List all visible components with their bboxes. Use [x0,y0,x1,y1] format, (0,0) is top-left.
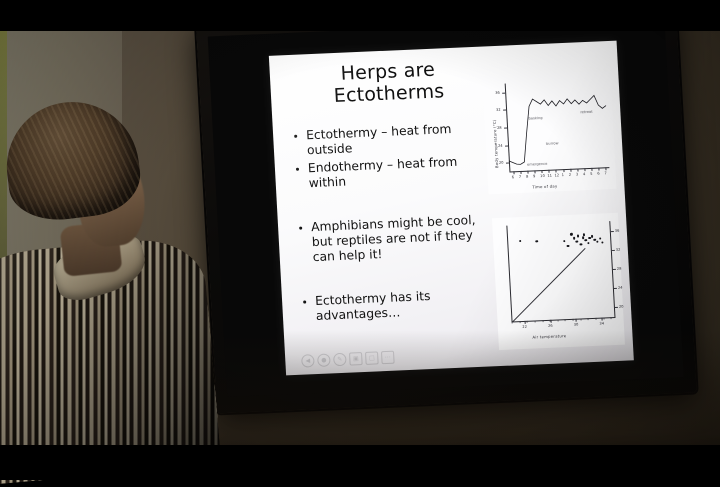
top-chart-x-tick [556,169,557,172]
scatter-point [570,233,573,235]
bottom-chart-data-points [492,213,618,218]
presentation-slide[interactable]: Herps are Ectotherms Ectothermy – heat f… [269,41,634,376]
top-chart-y-tick-label: 32 [496,108,501,112]
top-chart-x-tick-label: 6 [597,172,600,176]
bottom-chart-minor-tick [595,318,596,320]
top-chart-x-tick [570,169,571,172]
scatter-point [573,237,576,239]
top-chart-x-tick-label: 1 [562,173,565,177]
bottom-chart-y-tick-label: 32 [616,247,621,251]
bottom-chart-x-tick [576,319,577,322]
top-chart-x-tick-label: 11 [547,174,552,178]
top-chart-x-tick [513,171,514,174]
top-chart-x-tick [591,168,592,171]
scatter-point [567,245,570,247]
top-chart-x-tick-label: 10 [540,174,545,178]
bottom-chart-y-tick [613,269,616,270]
bottom-chart-minor-tick [534,320,535,322]
top-chart-x-tick [534,170,535,173]
bottom-chart-minor-tick [557,319,558,321]
bottom-chart-reference-line [512,248,585,322]
scatter-point [519,240,522,242]
top-chart-y-tick [505,145,508,146]
scatter-point [536,240,539,242]
figure-body-temperature-line-chart: Body temperature (°C) Time of day emerge… [482,71,616,194]
top-chart-x-tick-label: 3 [576,172,579,176]
scatter-point [585,239,588,241]
bottom-chart-y-tick [615,307,618,308]
top-chart-y-tick [506,163,509,164]
bottom-chart-x-tick [524,321,525,324]
bottom-chart-x-tick-label: 34 [599,321,604,325]
bottom-chart-minor-tick [512,321,513,323]
bottom-chart-minor-tick [580,318,581,320]
top-chart-x-tick-label: 7 [604,171,607,175]
bottom-chart-x-tick-label: 30 [574,323,579,327]
bottom-chart-minor-tick [572,319,573,321]
lecture-room-scene: Herps are Ectotherms Ectothermy – heat f… [0,0,720,480]
top-chart-y-tick-label: 20 [499,161,504,165]
top-chart-x-tick [549,170,550,173]
top-chart-y-tick-label: 36 [495,91,500,95]
scatter-point [583,234,586,236]
scatter-point [580,243,583,245]
slide-bullet-list: Ectothermy – heat from outside Endotherm… [291,121,492,328]
scatter-point [576,241,579,243]
bottom-chart-y-tick-label: 36 [615,228,620,232]
top-chart-x-tick-label: 5 [590,172,593,176]
bottom-chart-y-tick [611,231,614,232]
top-chart-x-tick [563,169,564,172]
bullet-item-1: Ectothermy – heat from outside [291,121,482,158]
scatter-point [596,241,599,243]
bottom-chart-minor-tick [519,321,520,323]
bottom-chart-minor-tick [542,320,543,322]
bullet-item-3: Amphibians might be cool, but reptiles a… [296,213,488,265]
top-chart-x-tick [527,171,528,174]
scatter-point [587,242,590,244]
top-chart-y-tick-label: 24 [498,143,503,147]
bottom-chart-x-tick-label: 22 [522,325,527,329]
bottom-chart-y-tick-label: 28 [617,267,622,271]
top-chart-x-tick [520,171,521,174]
bottom-chart-minor-tick [527,321,528,323]
slide-title-line-2: Ectotherms [299,79,480,109]
bottom-chart-y-tick [612,250,615,251]
scatter-point [599,238,602,240]
scatter-point [601,241,604,243]
top-chart-x-tick-label: 4 [583,172,586,176]
bottom-chart-x-tick-label: 26 [548,324,553,328]
bottom-chart-y-tick [614,288,617,289]
person-standing [0,96,212,456]
top-chart-x-tick [541,170,542,173]
bottom-chart-minor-tick [550,320,551,322]
bottom-chart-minor-tick [565,319,566,321]
bottom-chart-y-tick-labels: 2024283236 [492,213,618,218]
scatter-point [563,240,566,242]
bottom-chart-minor-tick [588,318,589,320]
letterbox-bottom [0,445,720,480]
slide-title: Herps are Ectotherms [297,57,479,109]
top-chart-y-tick [504,128,507,129]
letterbox-top [0,0,720,31]
top-chart-y-tick [503,110,506,111]
top-chart-x-tick [584,168,585,171]
bottom-chart-y-tick-label: 20 [619,305,624,309]
top-chart-x-tick [606,167,607,170]
bottom-chart-minor-tick [603,317,604,319]
top-chart-x-tick-label: 12 [554,173,559,177]
bottom-chart-y-axis-left [506,226,512,322]
top-chart-y-tick [502,92,505,93]
top-chart-x-tick-label: 9 [533,174,536,178]
scatter-point [591,235,594,237]
scatter-point [577,235,580,237]
top-chart-x-tick-label: 6 [512,175,515,179]
top-chart-x-tick-label: 8 [526,175,529,179]
bottom-chart-x-tick-labels: 22263034 [492,213,618,218]
top-chart-x-tick [577,168,578,171]
top-chart-y-tick-label: 28 [497,126,502,130]
top-chart-x-tick-label: 7 [519,175,522,179]
top-chart-x-tick-label: 2 [569,173,572,177]
bottom-chart-y-tick-label: 24 [618,286,623,290]
top-chart-x-tick [599,168,600,171]
bullet-item-2: Endothermy – heat from within [293,154,484,191]
bottom-chart-minor-tick [611,317,612,319]
